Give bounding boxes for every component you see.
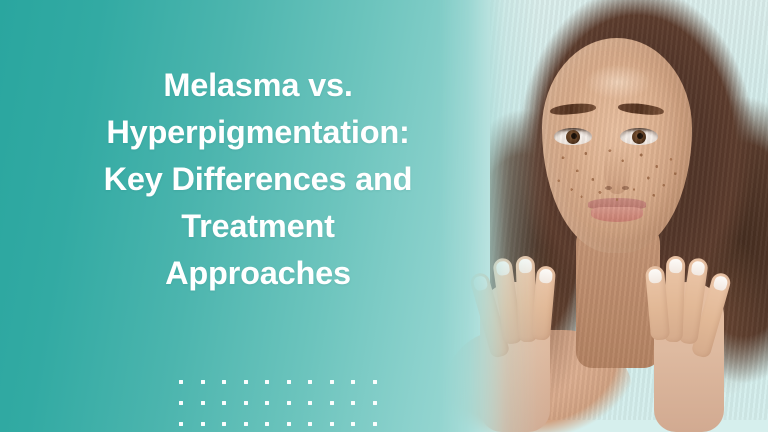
fingernail xyxy=(519,259,532,273)
dot-row xyxy=(179,380,371,384)
model-photo xyxy=(438,0,768,432)
headline-line-5: Approaches xyxy=(44,250,472,297)
dot xyxy=(330,401,334,405)
dot xyxy=(351,401,355,405)
dot xyxy=(265,422,269,426)
dot xyxy=(308,380,312,384)
dot xyxy=(179,401,183,405)
dot xyxy=(244,422,248,426)
dot xyxy=(287,401,291,405)
hand-left xyxy=(470,214,558,432)
headline-line-3: Key Differences and xyxy=(44,156,472,203)
dot xyxy=(287,380,291,384)
banner-headline: Melasma vs. Hyperpigmentation: Key Diffe… xyxy=(44,62,472,297)
headline-line-4: Treatment xyxy=(44,203,472,250)
dot xyxy=(201,422,205,426)
fingernail xyxy=(648,269,662,284)
dot xyxy=(222,401,226,405)
fingernail xyxy=(691,260,706,276)
fingernail xyxy=(472,275,488,292)
dot xyxy=(308,401,312,405)
dot xyxy=(222,380,226,384)
dot-grid-decoration xyxy=(179,380,371,432)
fingernail xyxy=(712,275,728,292)
dot xyxy=(351,422,355,426)
dot xyxy=(373,380,377,384)
hand-right xyxy=(644,214,732,432)
dot xyxy=(265,401,269,405)
dot xyxy=(330,380,334,384)
photo-mask xyxy=(438,0,768,432)
fingernail xyxy=(539,269,553,284)
dot xyxy=(201,401,205,405)
fingernail xyxy=(669,259,682,273)
dot xyxy=(308,422,312,426)
dot xyxy=(179,422,183,426)
headline-line-2: Hyperpigmentation: xyxy=(44,109,472,156)
dot xyxy=(287,422,291,426)
fingernail xyxy=(495,260,510,276)
dot xyxy=(244,401,248,405)
dot xyxy=(265,380,269,384)
dot xyxy=(351,380,355,384)
headline-line-1: Melasma vs. xyxy=(44,62,472,109)
dot xyxy=(179,380,183,384)
dot xyxy=(201,380,205,384)
dot xyxy=(244,380,248,384)
dot xyxy=(330,422,334,426)
dot xyxy=(373,401,377,405)
blog-banner: Melasma vs. Hyperpigmentation: Key Diffe… xyxy=(0,0,768,432)
dot-row xyxy=(179,401,371,405)
dot xyxy=(222,422,226,426)
dot-row xyxy=(179,422,371,426)
dot xyxy=(373,422,377,426)
